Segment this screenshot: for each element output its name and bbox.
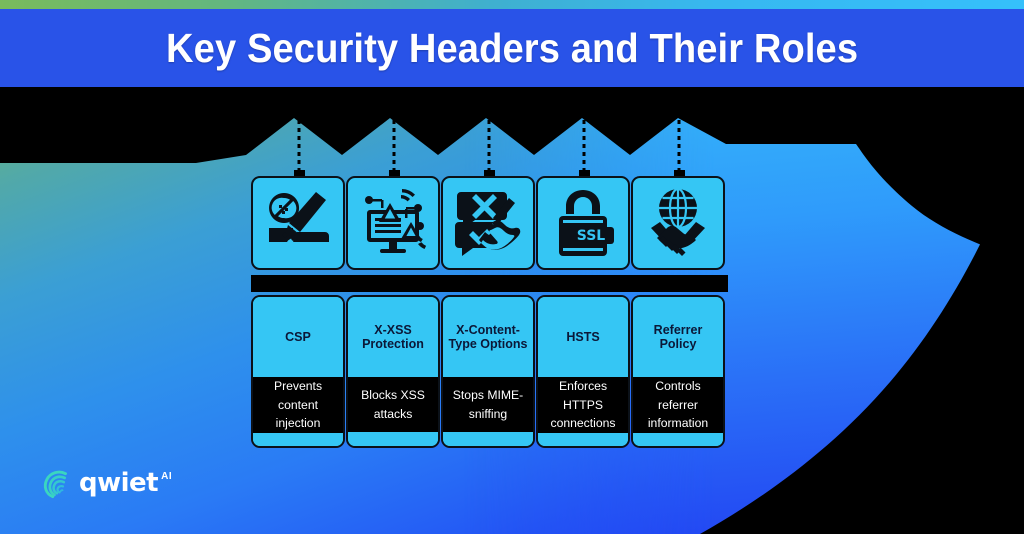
card-description: Prevents content injection (253, 377, 343, 433)
speech-bubbles-check-cross-icon (451, 186, 525, 260)
card-footer-strip (538, 433, 628, 447)
logo-wordmark: qwiet (79, 470, 158, 496)
card-title: HSTS (538, 297, 628, 377)
card-csp[interactable]: CSP Prevents content injection (251, 295, 345, 448)
brand-logo[interactable]: qwiet AI (40, 466, 172, 500)
ssl-padlock-icon: SSL (546, 186, 620, 260)
icon-tile-x-content-type-options[interactable] (441, 176, 535, 270)
card-title: X-Content-Type Options (443, 297, 533, 377)
title-banner: Key Security Headers and Their Roles (0, 9, 1024, 87)
card-footer-strip (348, 432, 438, 446)
page-title: Key Security Headers and Their Roles (166, 25, 858, 72)
card-description: Controls referrer information (633, 377, 723, 433)
globe-handshake-icon (641, 186, 715, 260)
card-footer-strip (253, 433, 343, 447)
infographic-canvas: Key Security Headers and Their Roles (0, 0, 1024, 534)
cards-group: SSL (251, 176, 728, 448)
card-description: Stops MIME-sniffing (443, 377, 533, 432)
logo-suffix: AI (161, 471, 172, 482)
card-description: Enforces HTTPS connections (538, 377, 628, 433)
icon-tile-csp[interactable] (251, 176, 345, 270)
card-footer-strip (633, 433, 723, 447)
card-referrer-policy[interactable]: Referrer Policy Controls referrer inform… (631, 295, 725, 448)
card-footer-strip (443, 432, 533, 446)
divider-bar (251, 275, 728, 292)
icon-tile-hsts[interactable]: SSL (536, 176, 630, 270)
card-x-content-type-options[interactable]: X-Content-Type Options Stops MIME-sniffi… (441, 295, 535, 448)
icon-row: SSL (251, 176, 728, 270)
card-title: CSP (253, 297, 343, 377)
card-description: Blocks XSS attacks (348, 377, 438, 432)
icon-tile-x-xss-protection[interactable] (346, 176, 440, 270)
monitor-warning-icon (356, 186, 430, 260)
qwiet-spiral-shell-icon (40, 466, 74, 500)
card-title: X-XSS Protection (348, 297, 438, 377)
card-hsts[interactable]: HSTS Enforces HTTPS connections (536, 295, 630, 448)
text-card-row: CSP Prevents content injection X-XSS Pro… (251, 295, 728, 448)
card-title: Referrer Policy (633, 297, 723, 377)
svg-text:SSL: SSL (577, 228, 606, 244)
no-injection-pen-icon (261, 186, 335, 260)
card-x-xss-protection[interactable]: X-XSS Protection Blocks XSS attacks (346, 295, 440, 448)
icon-tile-referrer-policy[interactable] (631, 176, 725, 270)
